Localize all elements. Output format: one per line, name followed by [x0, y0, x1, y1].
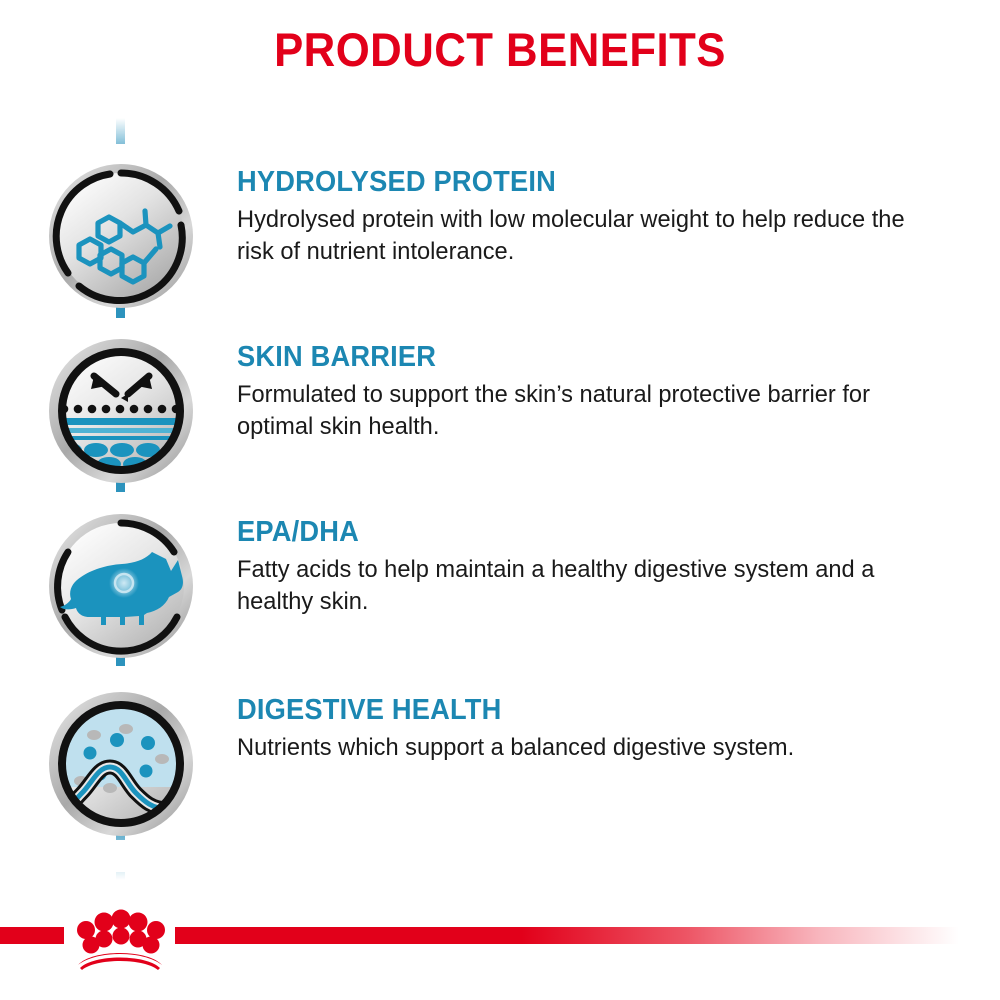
- benefit-text-epa-dha: EPA/DHA Fatty acids to help maintain a h…: [237, 517, 967, 618]
- footer-bar-left: [0, 927, 64, 944]
- benefit-title: EPA/DHA: [237, 517, 923, 548]
- intestine-icon: [48, 691, 194, 837]
- benefit-description: Fatty acids to help maintain a healthy d…: [237, 554, 941, 618]
- cat-icon: [48, 513, 194, 659]
- benefit-description: Hydrolysed protein with low molecular we…: [237, 204, 941, 268]
- royal-canin-crown-logo: [66, 908, 174, 970]
- skin-barrier-icon: [48, 338, 194, 484]
- benefit-text-skin-barrier: SKIN BARRIER Formulated to support the s…: [237, 342, 967, 443]
- footer-bar-right: [175, 927, 1000, 944]
- product-benefits-page: PRODUCT BENEFITS: [0, 0, 1000, 1000]
- footer: [0, 900, 1000, 1000]
- benefit-title: DIGESTIVE HEALTH: [237, 695, 923, 726]
- benefit-description: Formulated to support the skin’s natural…: [237, 379, 941, 443]
- benefit-text-digestive-health: DIGESTIVE HEALTH Nutrients which support…: [237, 695, 967, 764]
- page-title: PRODUCT BENEFITS: [35, 22, 965, 77]
- benefit-title: HYDROLYSED PROTEIN: [237, 167, 923, 198]
- benefit-title: SKIN BARRIER: [237, 342, 923, 373]
- molecule-icon: [48, 163, 194, 309]
- benefit-text-hydrolysed-protein: HYDROLYSED PROTEIN Hydrolysed protein wi…: [237, 167, 967, 268]
- benefit-description: Nutrients which support a balanced diges…: [237, 732, 941, 764]
